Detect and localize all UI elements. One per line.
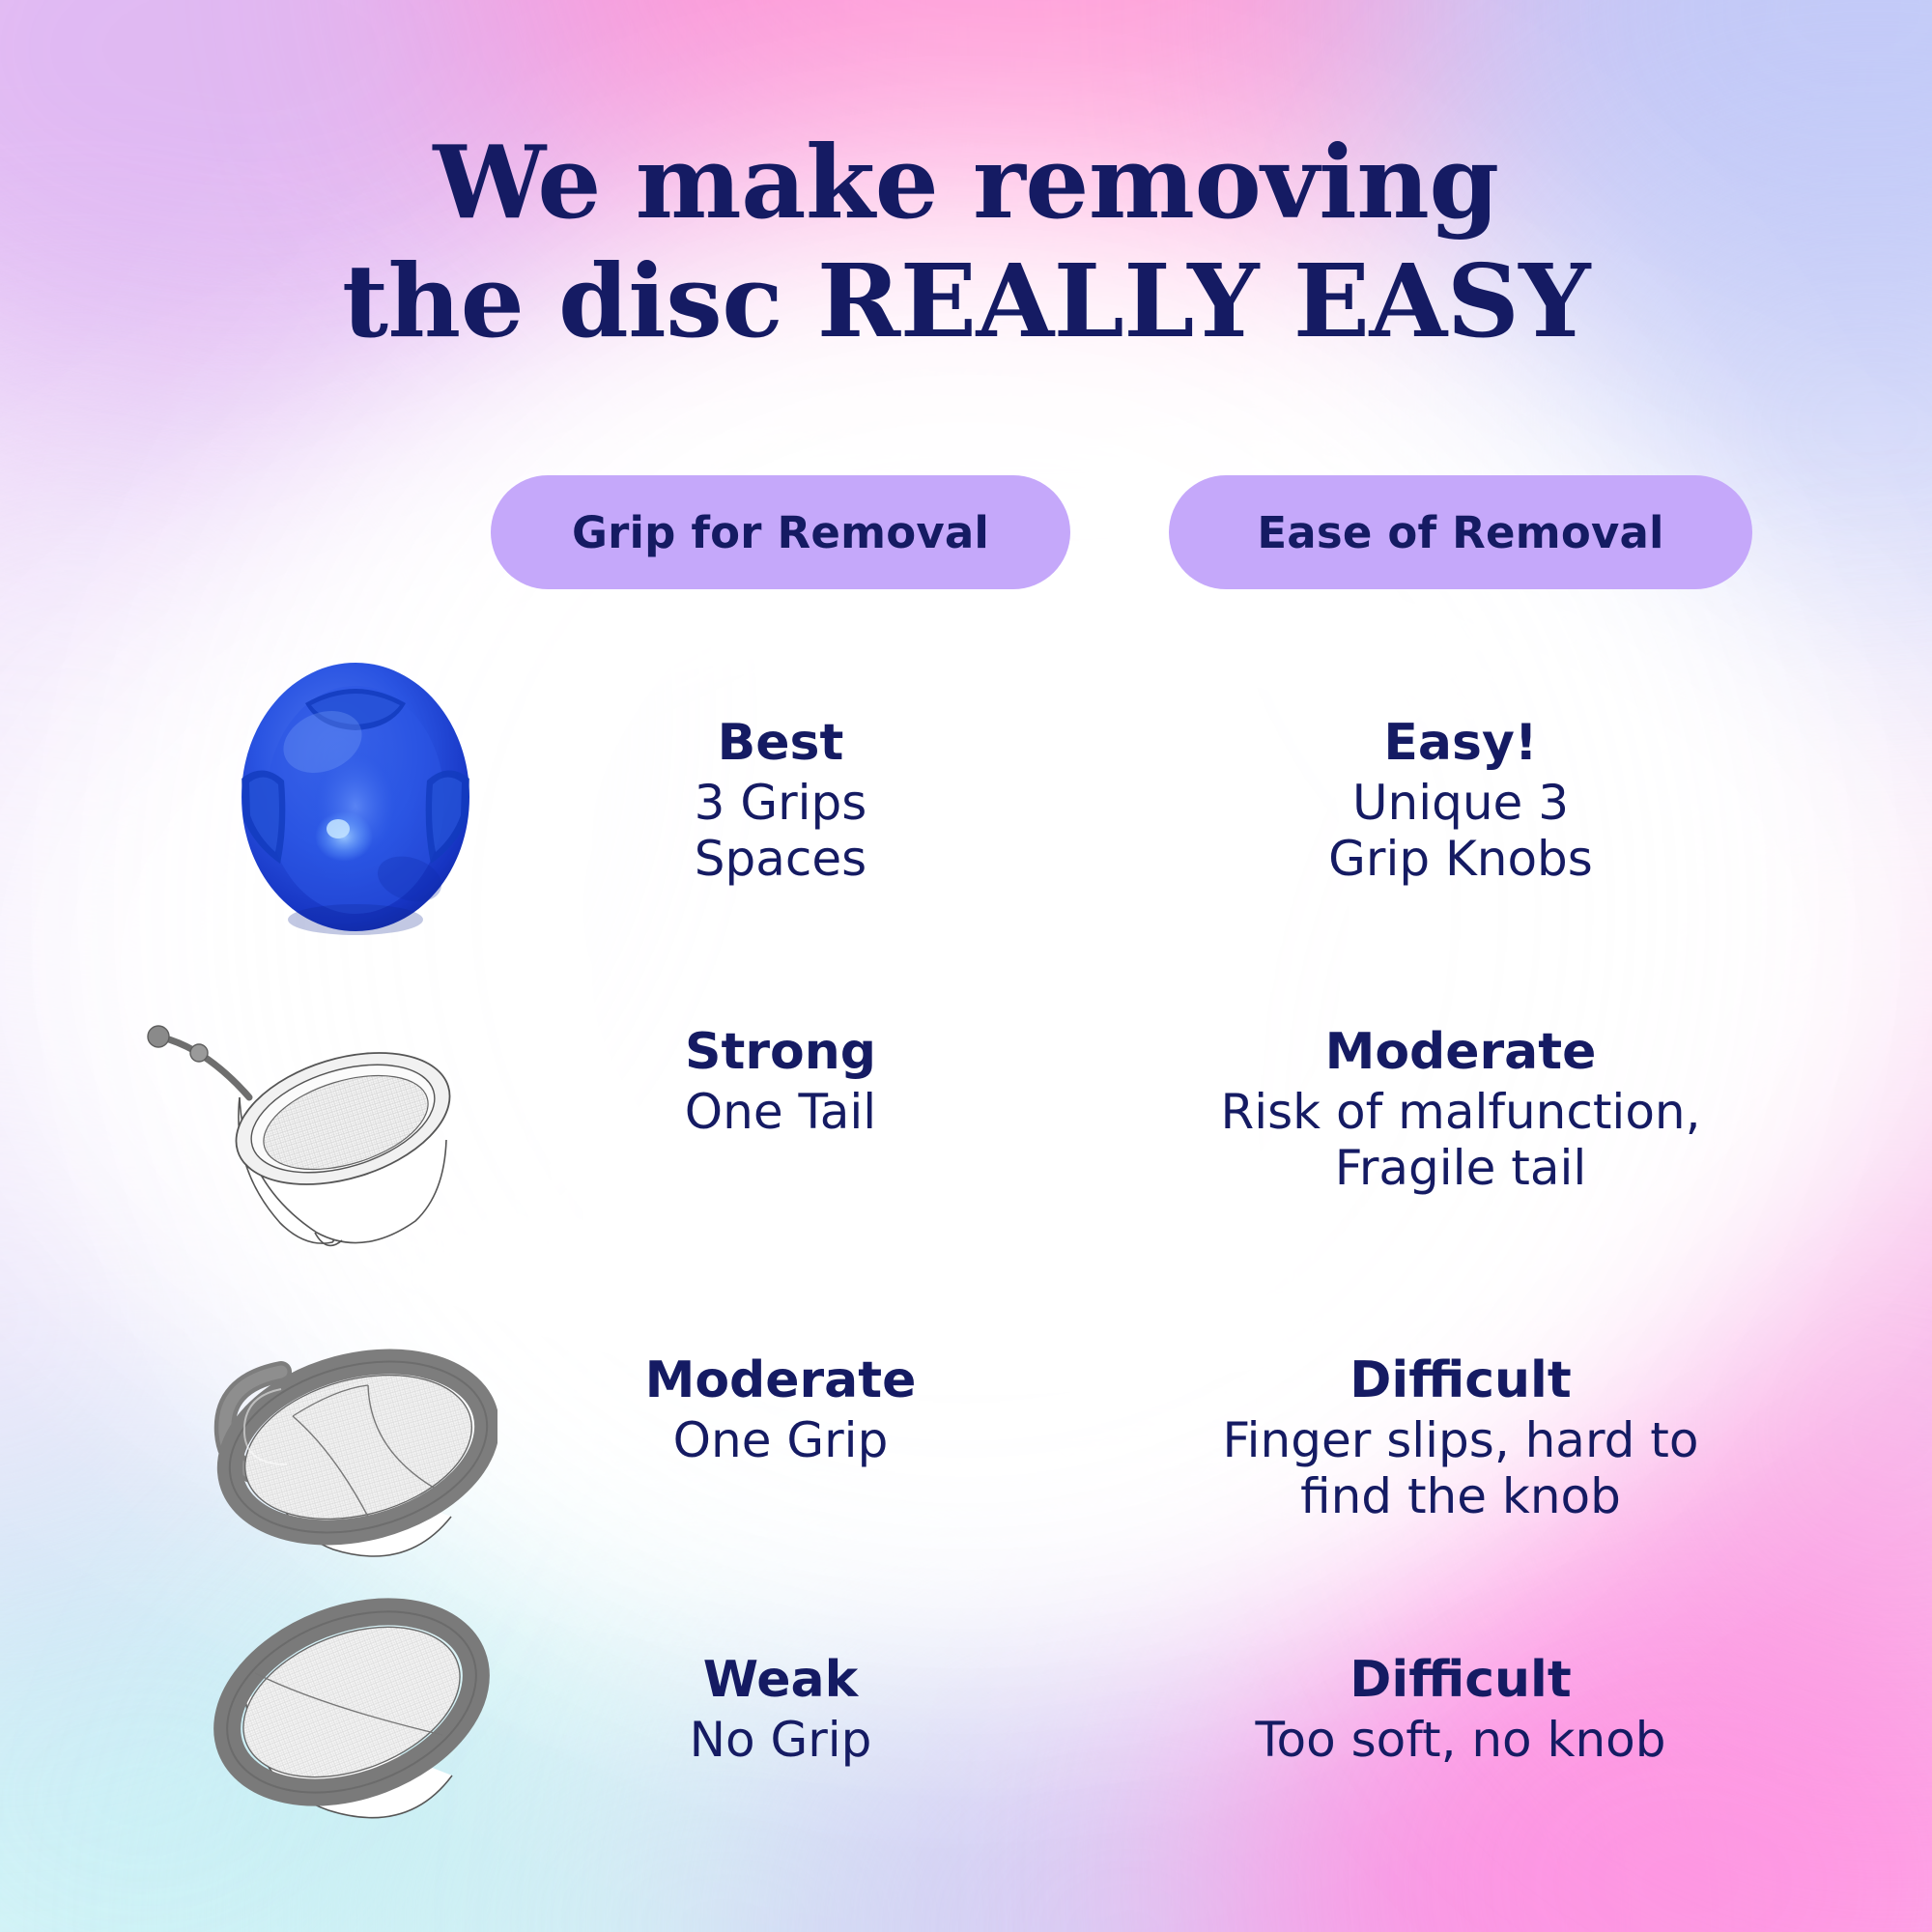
- grip-rating-2: Strong: [491, 1024, 1070, 1080]
- column-headers: Grip for Removal Ease of Removal: [0, 475, 1932, 589]
- table-row: Moderate One Grip Difficult Finger slips…: [0, 1304, 1932, 1623]
- product-image-blue-disc-three-grips: [230, 657, 481, 937]
- ease-rating-4: Difficult: [1169, 1652, 1752, 1708]
- grip-rating-1: Best: [491, 715, 1070, 771]
- ease-detail-2: Risk of malfunction, Fragile tail: [1169, 1084, 1752, 1196]
- column-header-grip: Grip for Removal: [491, 475, 1070, 589]
- ease-rating-2: Moderate: [1169, 1024, 1752, 1080]
- ease-detail-3: Finger slips, hard to find the knob: [1169, 1412, 1752, 1524]
- grip-detail-4: No Grip: [491, 1712, 1070, 1768]
- cell-grip-2: Strong One Tail: [491, 1024, 1070, 1140]
- comparison-rows: Best 3 Grips Spaces Easy! Unique 3 Grip …: [0, 638, 1932, 1874]
- table-row: Best 3 Grips Spaces Easy! Unique 3 Grip …: [0, 638, 1932, 985]
- product-image-disc-with-loop-handle: [188, 1333, 497, 1613]
- grip-detail-1: 3 Grips Spaces: [491, 775, 1070, 887]
- product-image-plain-disc-no-grip: [205, 1594, 514, 1845]
- page-title: We make removing the disc REALLY EASY: [0, 124, 1932, 360]
- grip-detail-3: One Grip: [491, 1412, 1070, 1468]
- product-image-cup-with-tail: [135, 1005, 464, 1294]
- grip-detail-2: One Tail: [491, 1084, 1070, 1140]
- ease-rating-1: Easy!: [1169, 715, 1752, 771]
- cell-grip-1: Best 3 Grips Spaces: [491, 715, 1070, 887]
- cell-ease-1: Easy! Unique 3 Grip Knobs: [1169, 715, 1752, 887]
- cell-grip-3: Moderate One Grip: [491, 1352, 1070, 1468]
- table-row: Strong One Tail Moderate Risk of malfunc…: [0, 985, 1932, 1304]
- table-row: Weak No Grip Difficult Too soft, no knob: [0, 1623, 1932, 1874]
- cell-grip-4: Weak No Grip: [491, 1652, 1070, 1768]
- ease-detail-4: Too soft, no knob: [1169, 1712, 1752, 1768]
- poster-canvas: We make removing the disc REALLY EASY Gr…: [0, 0, 1932, 1932]
- cell-ease-2: Moderate Risk of malfunction, Fragile ta…: [1169, 1024, 1752, 1196]
- ease-rating-3: Difficult: [1169, 1352, 1752, 1408]
- grip-rating-3: Moderate: [491, 1352, 1070, 1408]
- grip-rating-4: Weak: [491, 1652, 1070, 1708]
- column-header-ease: Ease of Removal: [1169, 475, 1752, 589]
- cell-ease-4: Difficult Too soft, no knob: [1169, 1652, 1752, 1768]
- cell-ease-3: Difficult Finger slips, hard to find the…: [1169, 1352, 1752, 1524]
- ease-detail-1: Unique 3 Grip Knobs: [1169, 775, 1752, 887]
